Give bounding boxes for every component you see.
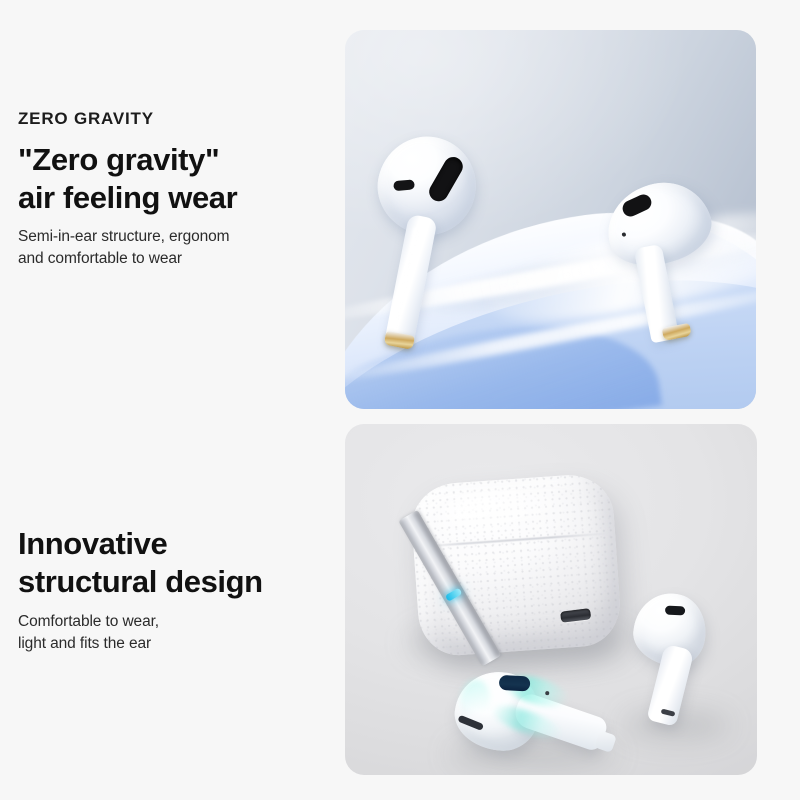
subcopy-innovative-design: Comfortable to wear, light and fits the … (18, 611, 333, 655)
product-image-panel-case-and-earbuds (345, 424, 757, 775)
earbud-stem (384, 214, 438, 349)
copy-block-zero-gravity: ZERO GRAVITY "Zero gravity" air feeling … (18, 110, 333, 270)
earbud-vent (499, 675, 531, 692)
headline-zero-gravity: "Zero gravity" air feeling wear (18, 141, 333, 217)
headline-innovative-design: Innovative structural design (18, 525, 333, 601)
eyebrow-zero-gravity: ZERO GRAVITY (18, 110, 333, 129)
subcopy-zero-gravity: Semi-in-ear structure, ergonom and comfo… (18, 226, 333, 270)
copy-block-innovative-design: Innovative structural design Comfortable… (18, 525, 333, 655)
charging-case (409, 472, 623, 658)
earbud-vent (665, 605, 685, 615)
earbud-bottom-front (451, 660, 620, 768)
product-marketing-page: ZERO GRAVITY "Zero gravity" air feeling … (0, 0, 800, 800)
product-image-panel-earbuds-silk (345, 30, 756, 409)
